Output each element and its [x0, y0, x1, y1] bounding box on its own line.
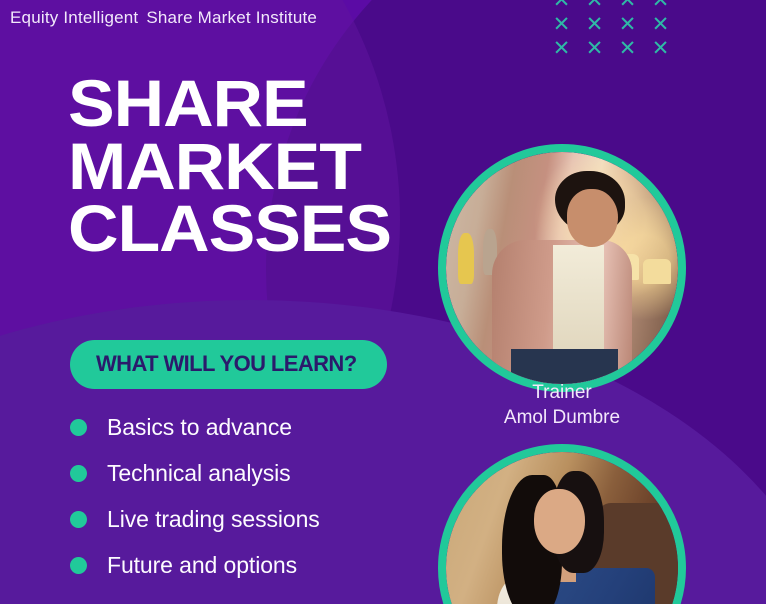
list-item-label: Technical analysis: [107, 460, 291, 487]
x-mark-icon: ✕: [611, 0, 644, 12]
photo-scene-indoor: [446, 452, 678, 604]
background-figure: [458, 233, 474, 284]
background-lamp: [643, 259, 671, 285]
trainer-photo-top-image: [446, 152, 678, 384]
curriculum-list: Basics to advance Technical analysis Liv…: [70, 404, 320, 588]
list-item: Technical analysis: [70, 450, 320, 496]
x-mark-icon: ✕: [578, 36, 611, 60]
x-mark-icon: ✕: [644, 12, 677, 36]
x-mark-icon: ✕: [545, 0, 578, 12]
badge-label: WHAT WILL YOU LEARN?: [96, 351, 357, 376]
poster-canvas: ✕ ✕ ✕ ✕ ✕ ✕ ✕ ✕ ✕ ✕ ✕ ✕ Equity Intellige…: [0, 0, 766, 604]
what-will-you-learn-badge: WHAT WILL YOU LEARN?: [70, 340, 387, 389]
subject-face: [534, 489, 585, 554]
bullet-dot-icon: [70, 511, 87, 528]
list-item-label: Future and options: [107, 552, 297, 579]
list-item: Basics to advance: [70, 404, 320, 450]
bullet-dot-icon: [70, 465, 87, 482]
trainer-photo-bottom-image: [446, 452, 678, 604]
bullet-dot-icon: [70, 419, 87, 436]
brand-header: Equity IntelligentShare Market Institute: [10, 8, 317, 28]
x-mark-icon: ✕: [545, 12, 578, 36]
x-mark-icon: ✕: [611, 36, 644, 60]
brand-name-secondary: Share Market Institute: [146, 8, 317, 27]
bullet-dot-icon: [70, 557, 87, 574]
list-item: Live trading sessions: [70, 496, 320, 542]
subject-jeans: [511, 349, 618, 384]
x-mark-icon: ✕: [611, 12, 644, 36]
x-pattern-decoration: ✕ ✕ ✕ ✕ ✕ ✕ ✕ ✕ ✕ ✕ ✕ ✕: [545, 0, 677, 60]
headline-line-2: MARKET: [68, 135, 391, 198]
page-title: SHARE MARKET CLASSES: [68, 72, 391, 260]
trainer-photo-top: [438, 144, 686, 392]
trainer-photo-bottom: [438, 444, 686, 604]
x-mark-icon: ✕: [578, 0, 611, 12]
x-mark-icon: ✕: [545, 36, 578, 60]
trainer-role: Trainer: [438, 381, 686, 406]
x-mark-icon: ✕: [644, 0, 677, 12]
photo-scene-lobby: [446, 152, 678, 384]
brand-name-primary: Equity Intelligent: [10, 8, 138, 27]
trainer-name: Amol Dumbre: [438, 406, 686, 431]
trainer-caption: Trainer Amol Dumbre: [438, 381, 686, 430]
list-item-label: Live trading sessions: [107, 506, 320, 533]
list-item: Future and options: [70, 542, 320, 588]
x-mark-icon: ✕: [578, 12, 611, 36]
x-mark-icon: ✕: [644, 36, 677, 60]
list-item-label: Basics to advance: [107, 414, 292, 441]
subject-face: [567, 189, 618, 247]
headline-line-1: SHARE: [68, 72, 391, 135]
headline-line-3: CLASSES: [68, 197, 391, 260]
